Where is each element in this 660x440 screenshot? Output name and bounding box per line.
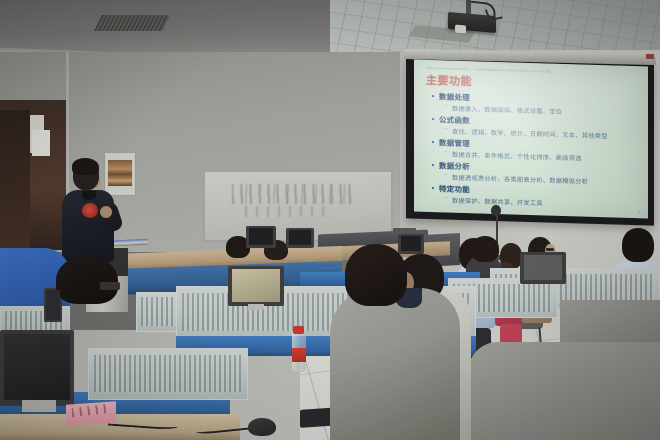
attendee-torso — [330, 288, 460, 440]
attendee-head — [345, 244, 407, 306]
classroom-scene: Office Automation Series — Data Manageme… — [0, 0, 660, 440]
whiteboard-writing-line-2 — [245, 206, 331, 217]
slide-bullet-item: 数据管理 数据合并、条件格式、个性化排序、高级筛选 — [430, 137, 642, 164]
slide-bullet-item: 公式函数 查找、逻辑、数学、统计、日期时间、文本、其他类型 — [430, 114, 642, 141]
monitor-stand — [22, 400, 56, 412]
projector-lens-icon — [455, 25, 466, 34]
eyeglasses-icon — [100, 282, 120, 290]
monitor-screen — [46, 290, 60, 320]
microphone-icon — [491, 205, 501, 216]
attendee-head — [622, 228, 654, 262]
monitor-screen — [524, 255, 562, 280]
monitor-screen — [249, 228, 273, 245]
monitor-stand — [248, 304, 264, 310]
attendee-head — [56, 256, 118, 304]
presenter-hair — [72, 158, 99, 175]
bottle-label — [292, 348, 306, 362]
ceiling-air-vent-icon — [94, 15, 170, 31]
workstation-partition — [88, 348, 248, 400]
posted-paper — [32, 130, 50, 156]
monitor-screen — [4, 334, 70, 400]
monitor-screen — [289, 230, 311, 245]
framed-picture-art — [108, 160, 132, 186]
slide-bullet-item: 特定功能 数据保护、数据共享、开发工具 — [430, 183, 642, 210]
presenter-hand — [100, 206, 112, 218]
monitor-screen — [401, 236, 421, 251]
projection-screen: Office Automation Series — Data Manageme… — [414, 60, 648, 219]
monitor-screen — [232, 269, 280, 302]
eyeglasses-icon — [546, 248, 554, 251]
slide-page-number: 5 — [638, 209, 640, 214]
wood-cabinet-left-inner — [0, 110, 30, 250]
attendee-back-row-right — [471, 236, 499, 262]
slide-bullet-list: 数据处理 数据录入、数据编辑、格式设置、定位 公式函数 查找、逻辑、数学、统计、… — [430, 91, 642, 212]
presenter-shirt-logo — [82, 203, 98, 218]
slide-bullet-item: 数据分析 数据透视表分析、各类图表分析、数据模拟分析 — [430, 160, 642, 187]
attendee-arm-sleeve — [468, 342, 660, 440]
bottle-cap — [293, 326, 304, 334]
computer-mouse — [248, 418, 276, 436]
whiteboard-writing-line-1 — [232, 184, 352, 204]
slide-title: 主要功能 — [426, 72, 472, 89]
partition-glass-panel — [94, 355, 242, 392]
screen-housing-marker — [646, 54, 654, 59]
presenter-collar — [82, 191, 96, 200]
slide-bullet-item: 数据处理 数据录入、数据编辑、格式设置、定位 — [430, 91, 642, 118]
